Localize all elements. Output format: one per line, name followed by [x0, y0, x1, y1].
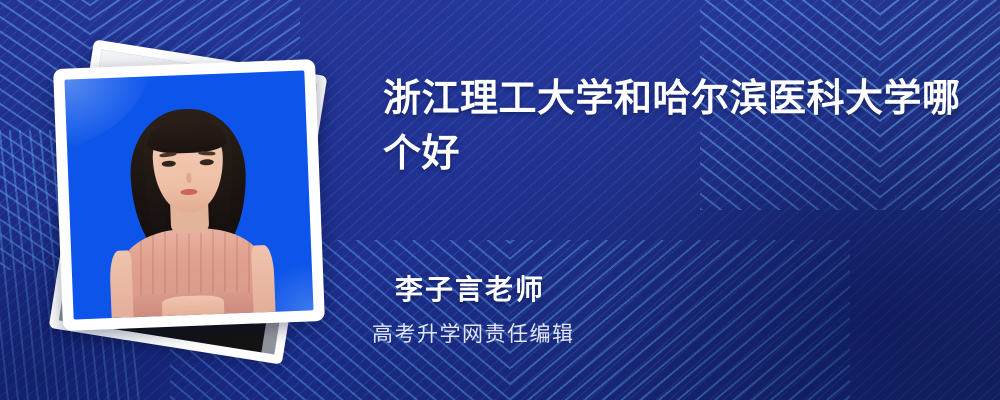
portrait-eyebrow-right	[198, 151, 215, 156]
banner-content: 浙江理工大学和哈尔滨医科大学哪个好 李子言老师 高考升学网责任编辑	[383, 0, 980, 400]
article-cover-banner: 浙江理工大学和哈尔滨医科大学哪个好 李子言老师 高考升学网责任编辑	[0, 0, 1000, 400]
author-byline: 高考升学网责任编辑	[372, 318, 575, 348]
portrait-illustration	[64, 70, 313, 319]
photo-card-stack	[44, 22, 344, 372]
author-name: 李子言老师	[395, 268, 545, 308]
portrait-nose	[186, 173, 191, 183]
page-title: 浙江理工大学和哈尔滨医科大学哪个好	[383, 72, 963, 182]
portrait-hands	[162, 295, 225, 317]
author-photo	[64, 70, 313, 319]
portrait-arm-right	[251, 245, 275, 313]
photo-card-front	[53, 59, 325, 331]
portrait-arm-left	[109, 250, 133, 318]
